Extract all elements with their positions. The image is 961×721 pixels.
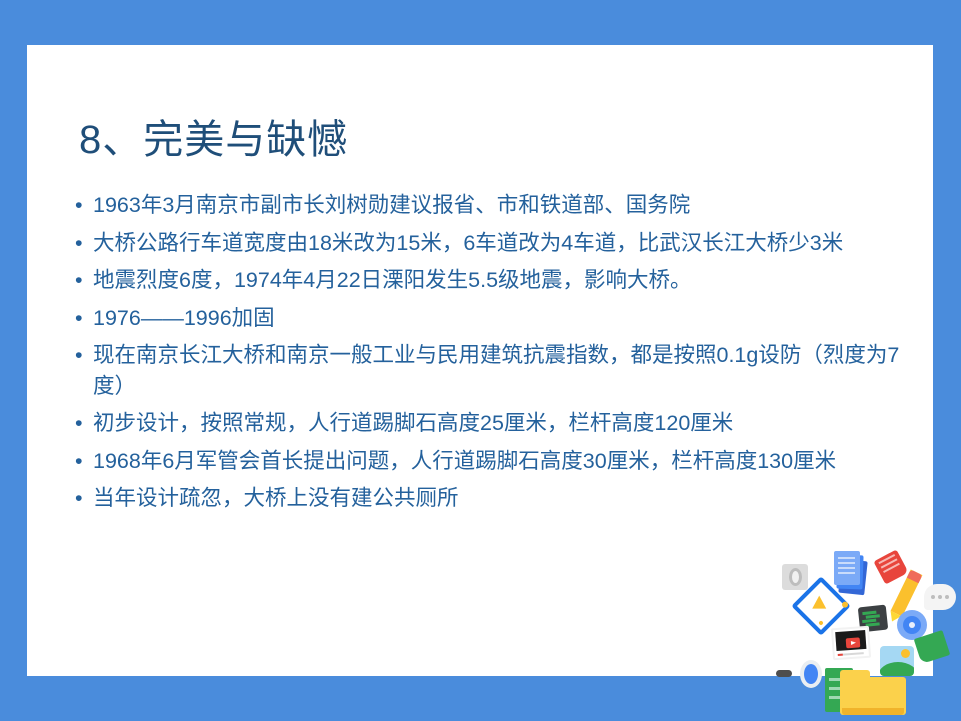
play-button-icon — [846, 637, 861, 648]
bullet-marker: • — [75, 483, 83, 514]
video-progress-bar — [838, 652, 864, 656]
pencil-eraser — [907, 569, 923, 583]
diamond-triangle — [812, 596, 826, 609]
dash-icon — [776, 670, 792, 677]
bullet-marker: • — [75, 303, 83, 334]
bullet-marker: • — [75, 265, 83, 296]
notebook-icon — [873, 549, 908, 584]
list-item-text: 1976——1996加固 — [93, 303, 901, 334]
list-item: • 大桥公路行车道宽度由18米改为15米，6车道改为4车道，比武汉长江大桥少3米 — [71, 228, 901, 259]
camera-icon — [782, 564, 808, 590]
photo-sun — [901, 649, 910, 658]
bullet-marker: • — [75, 408, 83, 439]
yellow-folder-icon — [840, 670, 906, 720]
document-page — [834, 551, 860, 585]
list-item: • 1968年6月军管会首长提出问题，人行道踢脚石高度30厘米，栏杆高度130厘… — [71, 446, 901, 477]
diamond-dot — [818, 620, 824, 626]
diamond-spark — [842, 602, 848, 608]
list-item-text: 现在南京长江大桥和南京一般工业与民用建筑抗震指数，都是按照0.1g设防（烈度为7… — [93, 340, 901, 401]
list-item: • 地震烈度6度，1974年4月22日溧阳发生5.5级地震，影响大桥。 — [71, 265, 901, 296]
chat-bubble-icon — [924, 584, 956, 610]
video-player-icon — [831, 626, 871, 661]
list-item-text: 当年设计疏忽，大桥上没有建公共厕所 — [93, 483, 901, 514]
documents-icon — [832, 550, 866, 594]
folder-lip — [842, 708, 904, 715]
list-item-text: 初步设计，按照常规，人行道踢脚石高度25厘米，栏杆高度120厘米 — [93, 408, 901, 439]
media-icon-cluster — [772, 542, 961, 721]
video-screen — [835, 630, 866, 651]
bullet-marker: • — [75, 446, 83, 477]
bullet-marker: • — [75, 228, 83, 259]
list-item-text: 1968年6月军管会首长提出问题，人行道踢脚石高度30厘米，栏杆高度130厘米 — [93, 446, 901, 477]
list-item-text: 大桥公路行车道宽度由18米改为15米，6车道改为4车道，比武汉长江大桥少3米 — [93, 228, 901, 259]
list-item-text: 地震烈度6度，1974年4月22日溧阳发生5.5级地震，影响大桥。 — [93, 265, 901, 296]
bullet-marker: • — [75, 340, 83, 371]
presentation-slide: 8、完美与缺憾 • 1963年3月南京市副市长刘树勋建议报省、市和铁道部、国务院… — [0, 0, 961, 721]
list-item: • 初步设计，按照常规，人行道踢脚石高度25厘米，栏杆高度120厘米 — [71, 408, 901, 439]
slide-title: 8、完美与缺憾 — [79, 117, 348, 163]
list-item: • 当年设计疏忽，大桥上没有建公共厕所 — [71, 483, 901, 514]
list-item: • 现在南京长江大桥和南京一般工业与民用建筑抗震指数，都是按照0.1g设防（烈度… — [71, 340, 901, 401]
list-item: • 1976——1996加固 — [71, 303, 901, 334]
bullet-list: • 1963年3月南京市副市长刘树勋建议报省、市和铁道部、国务院 • 大桥公路行… — [71, 190, 901, 521]
list-item-text: 1963年3月南京市副市长刘树勋建议报省、市和铁道部、国务院 — [93, 190, 901, 221]
bullet-marker: • — [75, 190, 83, 221]
list-item: • 1963年3月南京市副市长刘树勋建议报省、市和铁道部、国务院 — [71, 190, 901, 221]
blue-pill-icon — [800, 660, 822, 688]
